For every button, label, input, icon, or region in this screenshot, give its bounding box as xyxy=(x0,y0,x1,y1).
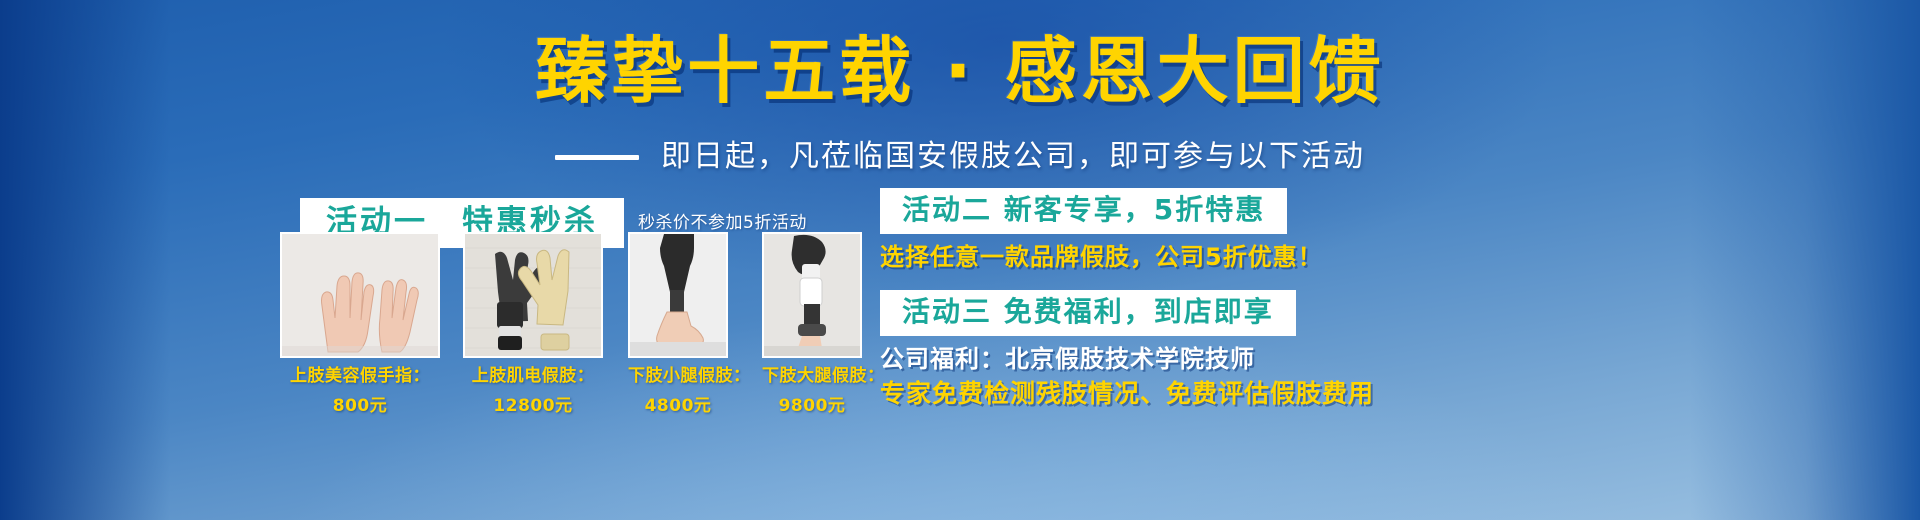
activity-three-line-1: 公司福利：北京假肢技术学院技师 xyxy=(880,344,1780,374)
page-title: 臻挚十五载 · 感恩大回馈 xyxy=(0,32,1920,110)
list-item[interactable]: 下肢大腿假肢： 9800元 xyxy=(762,232,862,418)
subtitle-row: 即日起，凡莅临国安假肢公司，即可参与以下活动 xyxy=(0,140,1920,174)
above-knee-prosthesis-photo xyxy=(762,232,862,358)
product-name: 下肢大腿假肢： xyxy=(762,364,862,388)
activity-panel: 活动二 新客专享，5折特惠 选择任意一款品牌假肢，公司5折优惠！ 活动三 免费福… xyxy=(880,188,1780,410)
product-list: 上肢美容假手指： 800元 xyxy=(280,232,920,482)
activity-one-note: 秒杀价不参加5折活动 xyxy=(638,213,807,233)
product-name: 上肢美容假手指： xyxy=(280,364,440,388)
activity-three-tag: 活动三 免费福利，到店即享 xyxy=(880,290,1296,336)
activity-three-block: 活动三 免费福利，到店即享 公司福利：北京假肢技术学院技师 专家免费检测残肢情况… xyxy=(880,290,1780,410)
list-item[interactable]: 上肢肌电假肢： 12800元 xyxy=(463,232,603,418)
promo-banner: 臻挚十五载 · 感恩大回馈 即日起，凡莅临国安假肢公司，即可参与以下活动 活动一… xyxy=(0,0,1920,520)
cosmetic-hands-photo xyxy=(280,232,440,358)
product-price: 800元 xyxy=(280,394,440,418)
product-price: 12800元 xyxy=(463,394,603,418)
myoelectric-hands-photo xyxy=(463,232,603,358)
product-price: 9800元 xyxy=(762,394,862,418)
list-item[interactable]: 上肢美容假手指： 800元 xyxy=(280,232,440,418)
product-name: 上肢肌电假肢： xyxy=(463,364,603,388)
list-item[interactable]: 下肢小腿假肢： 4800元 xyxy=(628,232,728,418)
below-knee-prosthesis-photo xyxy=(628,232,728,358)
product-name: 下肢小腿假肢： xyxy=(628,364,728,388)
activity-three-line-2: 专家免费检测残肢情况、免费评估假肢费用 xyxy=(880,378,1780,410)
activity-two-tag: 活动二 新客专享，5折特惠 xyxy=(880,188,1287,234)
subtitle-text: 即日起，凡莅临国安假肢公司，即可参与以下活动 xyxy=(661,140,1365,174)
product-price: 4800元 xyxy=(628,394,728,418)
activity-two-line: 选择任意一款品牌假肢，公司5折优惠！ xyxy=(880,242,1780,272)
decorative-dash-icon xyxy=(555,155,639,160)
activity-two-block: 活动二 新客专享，5折特惠 选择任意一款品牌假肢，公司5折优惠！ xyxy=(880,188,1780,272)
